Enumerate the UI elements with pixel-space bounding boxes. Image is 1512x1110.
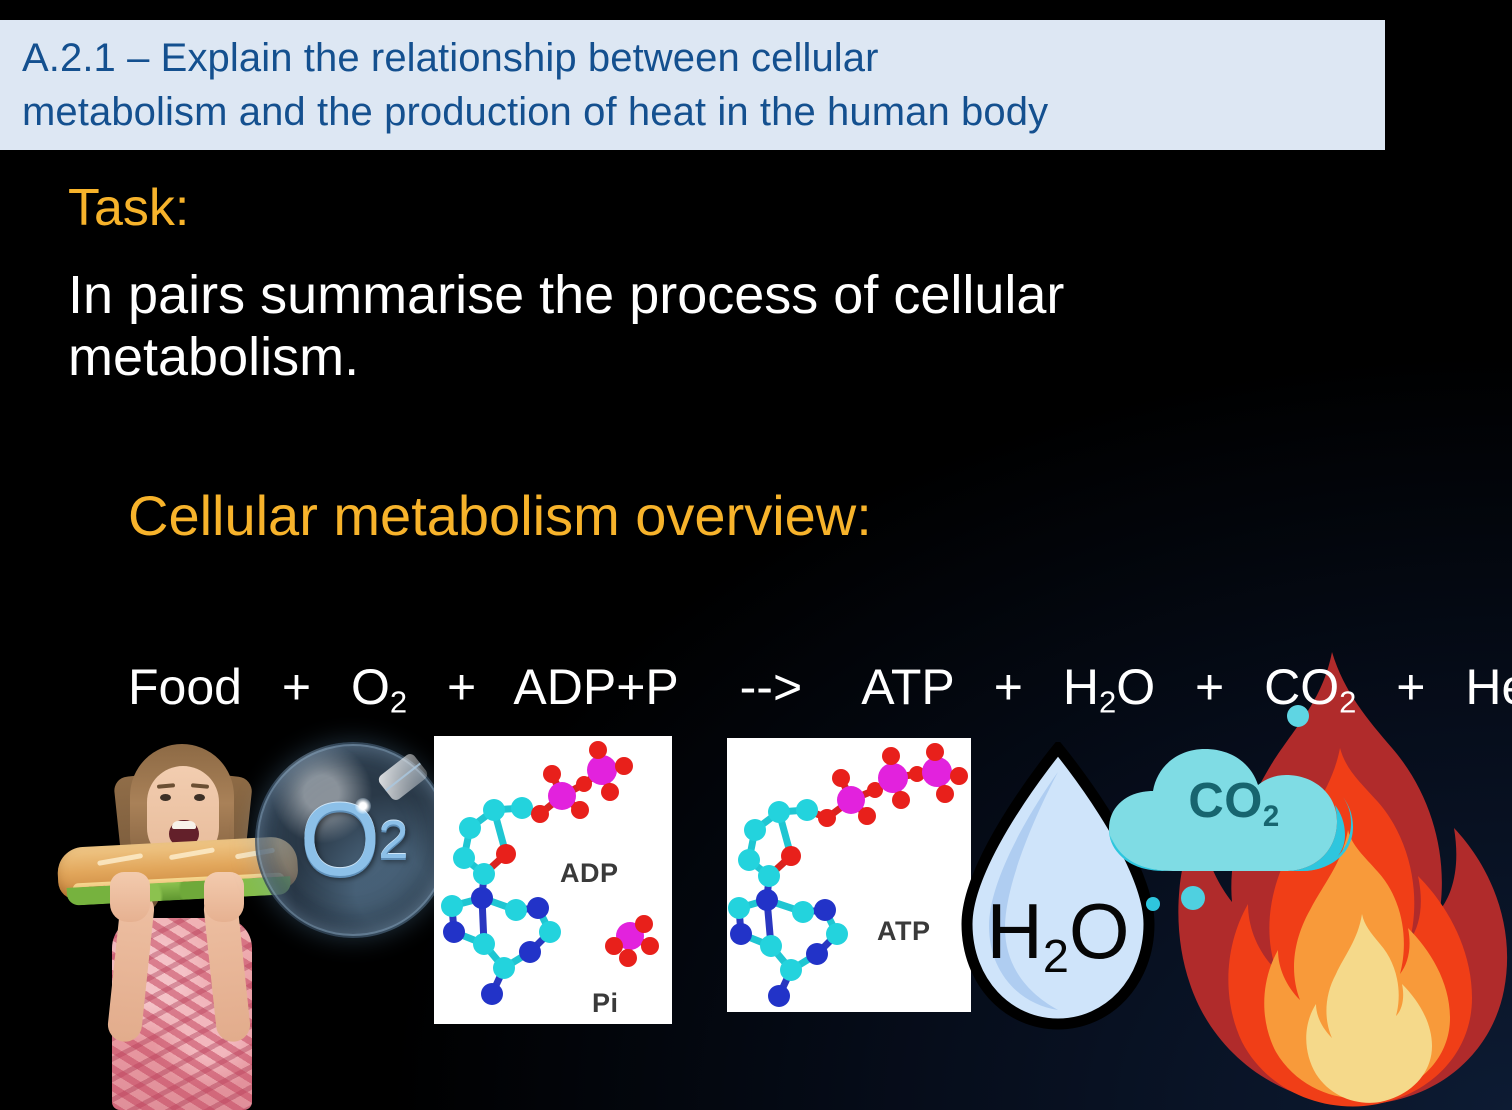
- co2-label: CO2: [1103, 777, 1365, 831]
- equation-plus-5: +: [1396, 659, 1425, 715]
- adp-molecule-panel: ADP Pi: [434, 736, 672, 1024]
- atp-molecule-panel: ATP: [727, 738, 971, 1012]
- equation-reactant-food: Food: [128, 659, 242, 715]
- equation-reactant-oxygen: O2: [351, 659, 407, 715]
- flame-icon: [1172, 652, 1512, 1110]
- cloud-bubble-3: [1287, 705, 1309, 727]
- atp-molecule-diagram: [727, 738, 971, 1012]
- hand-left: [110, 872, 150, 922]
- slide-canvas: A.2.1 – Explain the relationship between…: [0, 0, 1512, 1110]
- water-label: H2O: [949, 892, 1167, 980]
- teeth: [172, 821, 196, 829]
- equation-plus-1: +: [282, 659, 311, 715]
- cloud-bubble-2: [1146, 897, 1160, 911]
- co2-cloud-image: CO2: [1103, 745, 1365, 871]
- equation-plus-4: +: [1195, 659, 1224, 715]
- equation-reactant-adp: ADP+P: [513, 659, 677, 715]
- bubble-sparkle: [355, 798, 371, 814]
- equation-product-atp: ATP: [861, 659, 954, 715]
- eye-left: [160, 794, 171, 801]
- pi-label: Pi: [592, 988, 619, 1019]
- task-body-text: In pairs summarise the process of cellul…: [68, 265, 1358, 388]
- equation-plus-2: +: [447, 659, 476, 715]
- task-label: Task:: [68, 182, 189, 234]
- header-banner: A.2.1 – Explain the relationship between…: [0, 20, 1385, 150]
- equation-product-heat: Heat: [1465, 659, 1512, 715]
- adp-molecule-diagram: [434, 736, 672, 1024]
- equation-plus-3: +: [994, 659, 1023, 715]
- hand-right: [204, 872, 244, 922]
- eye-right: [194, 794, 205, 801]
- equation-arrow: -->: [740, 659, 803, 715]
- page-title: A.2.1 – Explain the relationship between…: [0, 31, 1066, 139]
- cloud-bubble-1: [1181, 886, 1205, 910]
- atp-label: ATP: [877, 916, 931, 947]
- oxygen-bubble-image: O2: [255, 742, 451, 938]
- equation-product-co2: CO2: [1264, 659, 1356, 715]
- adp-label: ADP: [560, 858, 619, 889]
- overview-heading: Cellular metabolism overview:: [128, 488, 872, 544]
- equation-product-water: H2O: [1063, 659, 1155, 715]
